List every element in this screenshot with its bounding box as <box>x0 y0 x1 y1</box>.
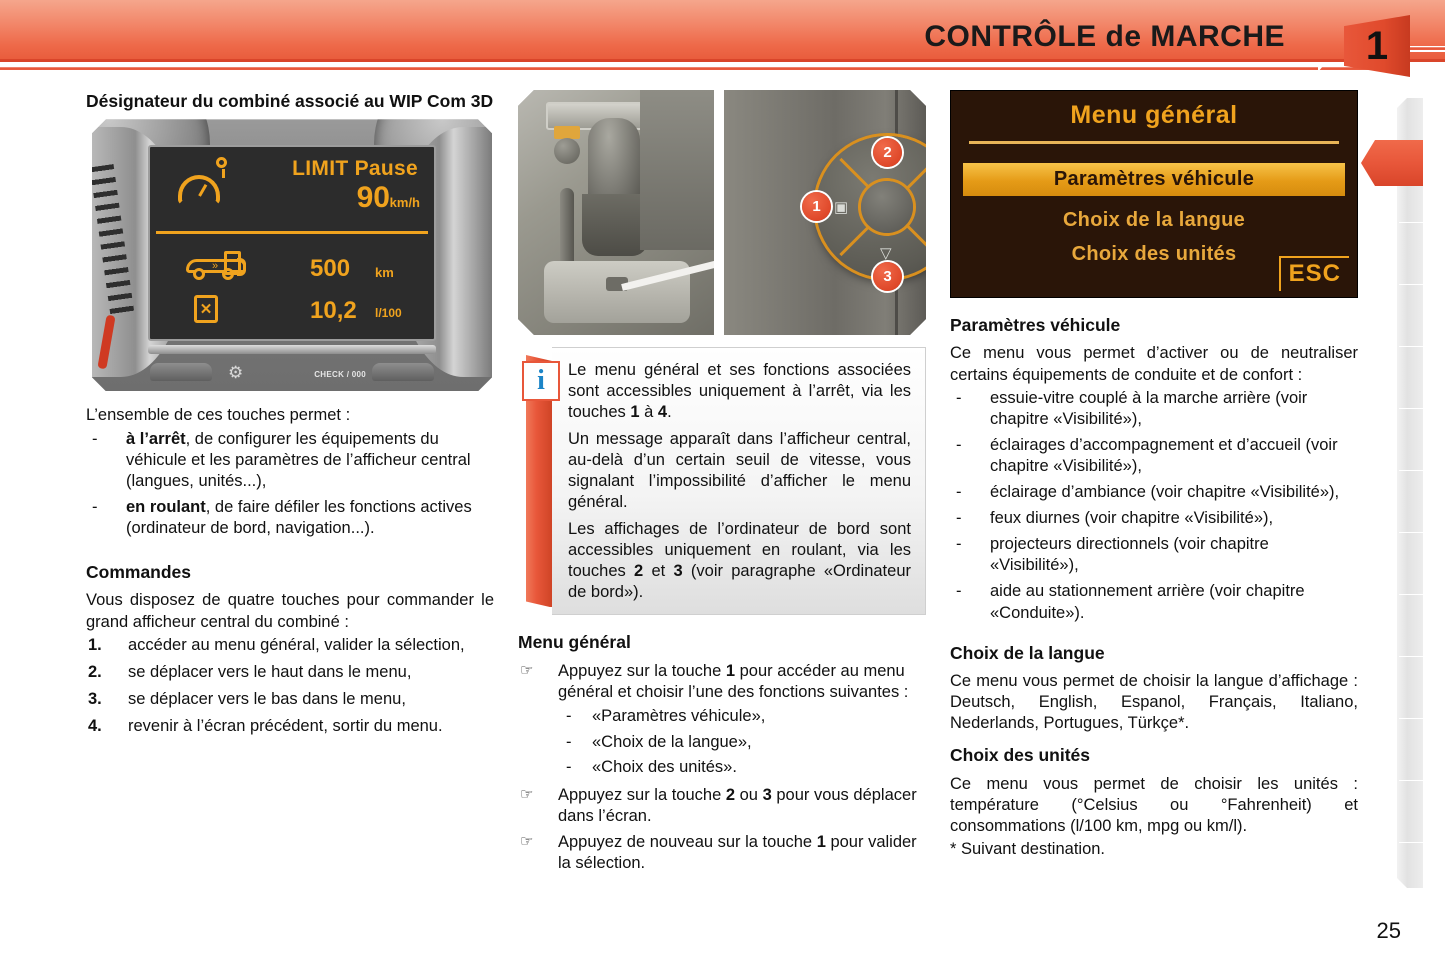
list-item: aide au stationnement arrière (voir chap… <box>950 581 1358 623</box>
photo-divider <box>714 90 724 335</box>
page-title: CONTRÔLE de MARCHE <box>924 20 1285 54</box>
units-heading: Choix des unités <box>950 744 1358 766</box>
vehicle-params-heading: Paramètres véhicule <box>950 314 1358 336</box>
range-arrows-icon: » <box>212 260 216 272</box>
cluster-right-button[interactable] <box>372 363 434 381</box>
list-item: ☞ Appuyez de nouveau sur la touche 1 pou… <box>518 832 926 874</box>
fuel-pump-icon <box>224 251 241 275</box>
pointing-hand-icon: ☞ <box>520 786 533 805</box>
speed-limiter-icon <box>178 175 220 205</box>
callout-3: 3 <box>873 262 902 291</box>
handbrake-lever <box>560 188 574 268</box>
info-paragraph-1: Le menu général et ses fonctions associé… <box>568 360 911 423</box>
chapter-number: 1 <box>1366 26 1388 66</box>
list-item: «Choix de la langue», <box>558 732 926 753</box>
vehicle-params-intro: Ce menu vous permet d’activer ou de neut… <box>950 343 1358 385</box>
left-column: Désignateur du combiné associé au WIP Co… <box>86 90 494 743</box>
cluster-left-button[interactable] <box>150 363 212 381</box>
list-item: essuie-vitre couplé à la marche arrière … <box>950 388 1358 430</box>
seat <box>640 90 714 250</box>
step-text-2: Appuyez sur la touche 2 ou 3 pour vous d… <box>558 786 917 825</box>
commands-heading: Commandes <box>86 561 494 583</box>
info-icon: i <box>522 361 560 401</box>
header-rule <box>0 66 1318 72</box>
range-unit: km <box>375 265 394 280</box>
list-item: 3.se déplacer vers le bas dans le menu, <box>86 689 494 710</box>
vehicle-params-list: essuie-vitre couplé à la marche arrière … <box>950 388 1358 624</box>
info-callout-box: i Le menu général et ses fonctions assoc… <box>518 347 926 615</box>
units-footnote: * Suivant destination. <box>950 839 1358 860</box>
page-number: 25 <box>1377 918 1401 944</box>
callout-1: 1 <box>802 192 831 221</box>
lcd-divider <box>156 231 428 234</box>
step-text-3: Appuyez de nouveau sur la touche 1 pour … <box>558 833 917 872</box>
range-value: 500 <box>310 255 350 283</box>
limit-speed-unit: km/h <box>390 195 420 210</box>
manual-page: CONTRÔLE de MARCHE 1 Désignateur du comb… <box>0 0 1445 964</box>
units-text: Ce menu vous permet de choisir les unité… <box>950 774 1358 837</box>
pin-icon <box>216 157 227 168</box>
consumption-value: 10,2 <box>310 297 357 325</box>
limit-speed-value: 90 <box>357 181 390 215</box>
list-item: «Choix des unités». <box>558 757 926 778</box>
pointing-hand-icon: ☞ <box>520 662 533 681</box>
menu-item-choix-langue[interactable]: Choix de la langue <box>951 209 1357 232</box>
cluster-trim-bar <box>148 345 436 354</box>
bullet-bold-2: en roulant <box>126 498 206 516</box>
info-paragraph-2: Un message apparaît dans l’afficheur cen… <box>568 429 911 513</box>
step-text-1: Appuyez sur la touche 1 pour accéder au … <box>558 662 908 701</box>
limit-label: LIMIT Pause <box>292 157 418 181</box>
control-pad-closeup: △ ▽ ▣ ↵ 1 2 3 4 <box>724 90 926 335</box>
language-heading: Choix de la langue <box>950 642 1358 664</box>
item-text: accéder au menu général, valider la séle… <box>128 636 465 654</box>
pad-center[interactable] <box>861 181 913 233</box>
bullet-bold-1: à l’arrêt <box>126 430 186 448</box>
list-item: 1.accéder au menu général, valider la sé… <box>86 635 494 656</box>
menu-screen-title: Menu général <box>951 101 1357 130</box>
info-paragraph-3: Les affichages de l’ordinateur de bord s… <box>568 519 911 603</box>
menu-steps-list: ☞ Appuyez sur la touche 1 pour accéder a… <box>518 661 926 874</box>
armrest <box>544 261 690 323</box>
list-item: ☞ Appuyez sur la touche 2 ou 3 pour vous… <box>518 785 926 827</box>
menu-general-heading: Menu général <box>518 631 926 653</box>
esc-button[interactable]: ESC <box>1279 256 1349 291</box>
shifter-boot <box>582 194 648 256</box>
list-item: ☞ Appuyez sur la touche 1 pour accéder a… <box>518 661 926 779</box>
consumption-icon: ✕ <box>194 295 218 323</box>
cluster-lcd-screen: LIMIT Pause 90 km/h » 500 km ✕ 10,2 l/10… <box>148 145 436 341</box>
item-number: 2. <box>88 662 102 683</box>
active-chapter-tab[interactable] <box>1361 140 1423 186</box>
commands-intro: Vous disposez de quatre touches pour com… <box>86 590 494 632</box>
general-menu-screen: Menu général Paramètres véhicule Choix d… <box>950 90 1358 298</box>
item-number: 4. <box>88 716 102 737</box>
right-column: Menu général Paramètres véhicule Choix d… <box>950 90 1358 862</box>
menu-icon[interactable]: ▣ <box>834 198 848 216</box>
list-item: éclairages d’accompagnement et d’accueil… <box>950 435 1358 477</box>
item-text: revenir à l’écran précédent, sortir du m… <box>128 717 443 735</box>
console-overview-photo <box>518 90 714 335</box>
item-text: se déplacer vers le bas dans le menu, <box>128 690 406 708</box>
list-item: feux diurnes (voir chapitre «Visibilité»… <box>950 508 1358 529</box>
trip-reset-icon: ⚙ <box>228 363 243 383</box>
down-arrow-icon[interactable]: ▽ <box>880 244 892 262</box>
back-icon[interactable]: ↵ <box>927 198 940 216</box>
check-label: CHECK / 000 <box>314 370 366 379</box>
chapter-tab-strip <box>1397 98 1423 888</box>
language-text: Ce menu vous permet de choisir la langue… <box>950 671 1358 734</box>
commands-list: 1.accéder au menu général, valider la sé… <box>86 635 494 737</box>
menu-item-parametres-vehicule[interactable]: Paramètres véhicule <box>963 163 1345 196</box>
center-console-photo: △ ▽ ▣ ↵ 1 2 3 4 <box>518 90 926 335</box>
menu-options-list: «Paramètres véhicule», «Choix de la lang… <box>558 706 926 778</box>
list-item: éclairage d’ambiance (voir chapitre «Vis… <box>950 482 1358 503</box>
instrument-cluster-image: LIMIT Pause 90 km/h » 500 km ✕ 10,2 l/10… <box>92 119 492 391</box>
item-text: se déplacer vers le haut dans le menu, <box>128 663 411 681</box>
info-text-container: Le menu général et ses fonctions associé… <box>552 347 926 615</box>
list-item: projecteurs directionnels (voir chapitre… <box>950 534 1358 576</box>
middle-column: △ ▽ ▣ ↵ 1 2 3 4 i Le menu général et ses… <box>518 90 926 880</box>
list-item: à l’arrêt, de configurer les équipements… <box>86 429 494 492</box>
callout-2: 2 <box>873 138 902 167</box>
list-item: en roulant, de faire défiler les fonctio… <box>86 497 494 539</box>
item-number: 1. <box>88 635 102 656</box>
menu-screen-divider <box>969 141 1339 144</box>
left-heading: Désignateur du combiné associé au WIP Co… <box>86 90 494 112</box>
console-knob-left <box>554 138 580 164</box>
left-intro: L’ensemble de ces touches permet : <box>86 405 494 426</box>
pointing-hand-icon: ☞ <box>520 833 533 852</box>
left-bullet-list: à l’arrêt, de configurer les équipements… <box>86 429 494 540</box>
consumption-unit: l/100 <box>375 306 402 320</box>
list-item: 2.se déplacer vers le haut dans le menu, <box>86 662 494 683</box>
item-number: 3. <box>88 689 102 710</box>
list-item: 4.revenir à l’écran précédent, sortir du… <box>86 716 494 737</box>
list-item: «Paramètres véhicule», <box>558 706 926 727</box>
